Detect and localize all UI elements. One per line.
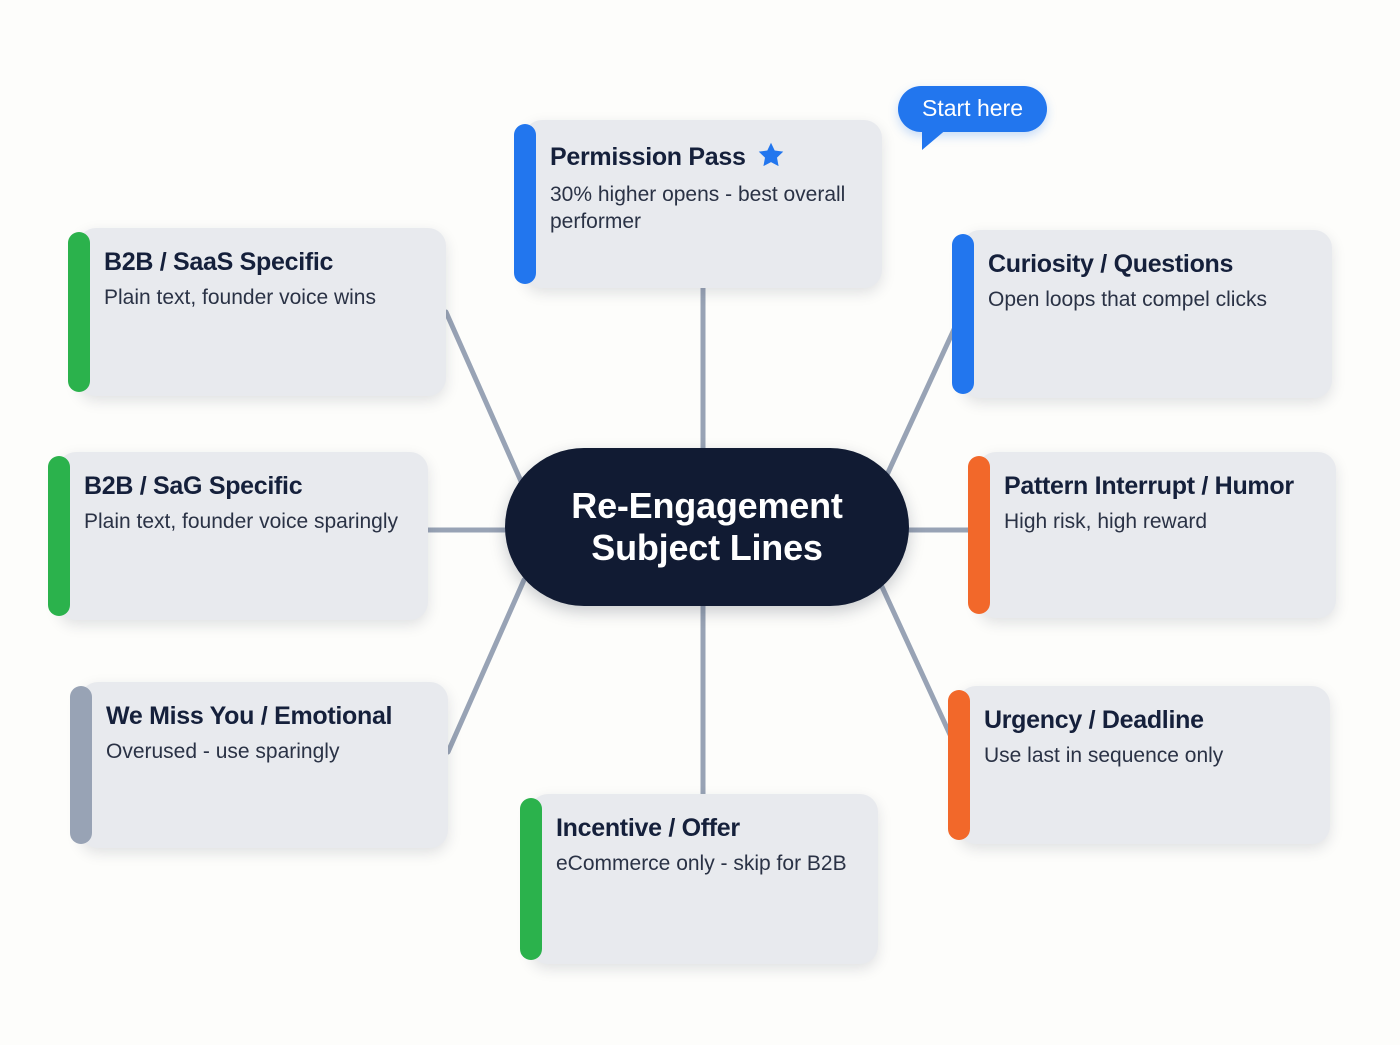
branch-title: B2B / SaaS Specific <box>104 248 422 278</box>
start-here-tooltip[interactable]: Start here <box>898 86 1047 132</box>
branch-description: Open loops that compel clicks <box>988 286 1308 313</box>
branch-title: Curiosity / Questions <box>988 250 1308 280</box>
branch-description: Overused - use sparingly <box>106 738 424 765</box>
start-here-label: Start here <box>922 95 1023 121</box>
edge-we-miss-you <box>448 580 524 752</box>
branch-description: 30% higher opens - best overall performe… <box>550 181 858 236</box>
branch-title-text: We Miss You / Emotional <box>106 702 392 732</box>
edge-urgency-deadline <box>878 578 958 752</box>
branch-card-pattern-interrupt-humor[interactable]: Pattern Interrupt / HumorHigh risk, high… <box>978 452 1336 618</box>
branch-card-urgency-deadline[interactable]: Urgency / DeadlineUse last in sequence o… <box>958 686 1330 844</box>
branch-title-text: B2B / SaaS Specific <box>104 248 333 278</box>
branch-card-curiosity-questions[interactable]: Curiosity / QuestionsOpen loops that com… <box>962 230 1332 398</box>
branch-description: Use last in sequence only <box>984 742 1306 769</box>
branch-title-text: Pattern Interrupt / Humor <box>1004 472 1294 502</box>
branch-title: We Miss You / Emotional <box>106 702 424 732</box>
branch-title: Pattern Interrupt / Humor <box>1004 472 1312 502</box>
branch-title-text: B2B / SaG Specific <box>84 472 302 502</box>
star-icon <box>756 140 786 175</box>
edge-b2b-saas <box>446 312 524 488</box>
branch-title: Permission Pass <box>550 140 858 175</box>
branch-title-text: Curiosity / Questions <box>988 250 1233 280</box>
branch-description: Plain text, founder voice sparingly <box>84 508 404 535</box>
branch-title-text: Permission Pass <box>550 143 746 173</box>
branch-description: High risk, high reward <box>1004 508 1312 535</box>
edge-curiosity-questions <box>880 312 962 490</box>
branch-card-b2b-saas-specific[interactable]: B2B / SaaS SpecificPlain text, founder v… <box>78 228 446 396</box>
branch-title: B2B / SaG Specific <box>84 472 404 502</box>
branch-title-text: Urgency / Deadline <box>984 706 1204 736</box>
branch-card-incentive-offer[interactable]: Incentive / OffereCommerce only - skip f… <box>530 794 878 964</box>
branch-title: Urgency / Deadline <box>984 706 1306 736</box>
central-hub-title: Re-Engagement Subject Lines <box>545 485 868 570</box>
branch-card-b2b-sag-specific[interactable]: B2B / SaG SpecificPlain text, founder vo… <box>58 452 428 620</box>
mindmap-canvas: Re-Engagement Subject Lines Start here P… <box>0 0 1400 1045</box>
branch-title-text: Incentive / Offer <box>556 814 740 844</box>
branch-card-we-miss-you-emotional[interactable]: We Miss You / EmotionalOverused - use sp… <box>80 682 448 848</box>
central-hub-node[interactable]: Re-Engagement Subject Lines <box>505 448 909 606</box>
branch-title: Incentive / Offer <box>556 814 854 844</box>
branch-card-permission-pass[interactable]: Permission Pass30% higher opens - best o… <box>524 120 882 288</box>
branch-description: eCommerce only - skip for B2B <box>556 850 854 877</box>
branch-description: Plain text, founder voice wins <box>104 284 422 311</box>
